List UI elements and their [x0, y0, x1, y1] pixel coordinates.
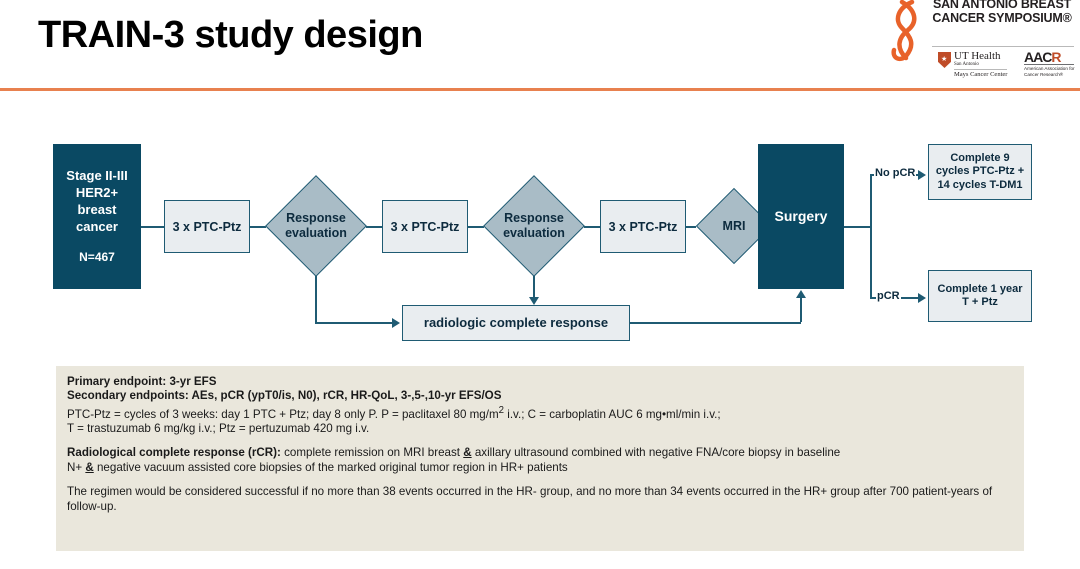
- connector-resp1-down: [315, 276, 317, 323]
- ut-mays-label: Mays Cancer Center: [954, 69, 1007, 78]
- treatment-box-3-label: 3 x PTC-Ptz: [609, 219, 678, 235]
- rcr-ampersand-1: &: [463, 446, 471, 459]
- rcr-part-1: complete remission on MRI breast: [281, 446, 463, 459]
- connector-tx1-resp1: [250, 226, 266, 228]
- arrow-into-surgery-bottom: [796, 290, 806, 298]
- treatment-box-2-label: 3 x PTC-Ptz: [391, 219, 460, 235]
- footnote-spacer-1: [67, 436, 1013, 446]
- arrow-into-rcr-left: [392, 318, 400, 328]
- treatment-box-1-label: 3 x PTC-Ptz: [173, 219, 242, 235]
- study-design-flowchart: Stage II-III HER2+ breast cancer N=467 3…: [0, 100, 1080, 360]
- rcr-part-2: axillary ultrasound combined with negati…: [472, 446, 841, 459]
- arrow-to-pcr-outcome: [918, 293, 926, 303]
- population-box: Stage II-III HER2+ breast cancer N=467: [53, 144, 141, 289]
- success-criteria-text: The regimen would be considered successf…: [67, 485, 1013, 514]
- connector-pop-tx1: [141, 226, 164, 228]
- regimen-line-2: T = trastuzumab 6 mg/kg i.v.; Ptz = pert…: [67, 422, 1013, 436]
- rcr-definition-line-1: Radiological complete response (rCR): co…: [67, 446, 1013, 460]
- sabcs-ribbon-icon: [886, 0, 928, 62]
- outcome-box-no-pcr-label: Complete 9 cycles PTC-Ptz + 14 cycles T-…: [933, 152, 1027, 193]
- regimen-line-1: PTC-Ptz = cycles of 3 weeks: day 1 PTC +…: [67, 404, 1013, 422]
- aacr-label: AACR: [1024, 49, 1060, 65]
- rcr-ampersand-2: &: [85, 461, 93, 474]
- rcr-part-3: N+: [67, 461, 85, 474]
- arrow-into-rcr-top: [529, 297, 539, 305]
- response-evaluation-2-label: Response evaluation: [484, 176, 584, 276]
- connector-rcr-to-surgery: [630, 322, 801, 324]
- population-count: N=467: [79, 249, 115, 266]
- sabcs-logo-title: SAN ANTONIO BREAST CANCER SYMPOSIUM®: [928, 0, 1076, 25]
- population-line1: Stage II-III: [66, 167, 127, 184]
- branch-trunk: [870, 174, 872, 299]
- branch-label-no-pcr: No pCR: [874, 167, 916, 179]
- connector-resp2-tx3: [584, 226, 600, 228]
- ut-health-label: UT Health: [954, 50, 1001, 62]
- radiologic-response-box: radiologic complete response: [402, 305, 630, 341]
- aacr-divider: [1024, 64, 1074, 65]
- logo-divider: [932, 46, 1074, 47]
- surgery-label: Surgery: [775, 208, 828, 225]
- response-evaluation-1: Response evaluation: [266, 176, 366, 276]
- population-line4: cancer: [76, 218, 118, 235]
- aacr-full-label: American Association for Cancer Research…: [1024, 66, 1078, 77]
- connector-resp2-down: [533, 276, 535, 297]
- treatment-box-2: 3 x PTC-Ptz: [382, 200, 468, 253]
- radiologic-response-label: radiologic complete response: [424, 315, 608, 331]
- population-line2: HER2+: [76, 184, 118, 201]
- treatment-box-1: 3 x PTC-Ptz: [164, 200, 250, 253]
- connector-rcr-up: [800, 298, 802, 322]
- response-evaluation-2: Response evaluation: [484, 176, 584, 276]
- footnote-panel: Primary endpoint: 3-yr EFS Secondary end…: [56, 366, 1024, 551]
- rcr-label: Radiological complete response (rCR):: [67, 446, 281, 459]
- treatment-box-3: 3 x PTC-Ptz: [600, 200, 686, 253]
- secondary-endpoint-line: Secondary endpoints: AEs, pCR (ypT0/is, …: [67, 389, 1013, 403]
- connector-tx3-mri: [686, 226, 696, 228]
- connector-resp1-tx2: [366, 226, 382, 228]
- header-accent-rule: [0, 88, 1080, 91]
- connector-surgery-branch: [844, 226, 872, 228]
- arrow-to-no-pcr-outcome: [918, 170, 926, 180]
- rcr-part-4: negative vacuum assisted core biopsies o…: [94, 461, 568, 474]
- page-title: TRAIN-3 study design: [38, 14, 423, 57]
- outcome-box-pcr: Complete 1 year T + Ptz: [928, 270, 1032, 322]
- regimen-line-1-cont: i.v.; C = carboplatin AUC 6 mg•ml/min i.…: [504, 408, 721, 421]
- sabcs-logo: SAN ANTONIO BREAST CANCER SYMPOSIUM® ★ U…: [886, 0, 1076, 86]
- rcr-definition-line-2: N+ & negative vacuum assisted core biops…: [67, 461, 1013, 475]
- outcome-box-no-pcr: Complete 9 cycles PTC-Ptz + 14 cycles T-…: [928, 144, 1032, 200]
- population-line3: breast: [77, 201, 116, 218]
- secondary-endpoint-value: AEs, pCR (ypT0/is, N0), rCR, HR-QoL, 3-,…: [189, 389, 502, 402]
- primary-endpoint-label: Primary endpoint:: [67, 375, 166, 388]
- branch-label-pcr: pCR: [876, 290, 901, 302]
- ut-sanantonio-label: San Antonio: [954, 62, 979, 67]
- response-evaluation-1-label: Response evaluation: [266, 176, 366, 276]
- regimen-line-1-text: PTC-Ptz = cycles of 3 weeks: day 1 PTC +…: [67, 408, 499, 421]
- surgery-box: Surgery: [758, 144, 844, 289]
- ut-star-icon: ★: [941, 56, 947, 63]
- primary-endpoint-value: 3-yr EFS: [166, 375, 216, 388]
- primary-endpoint-line: Primary endpoint: 3-yr EFS: [67, 375, 1013, 389]
- secondary-endpoint-label: Secondary endpoints:: [67, 389, 189, 402]
- logo-sublogos: ★ UT Health San Antonio Mays Cancer Cent…: [930, 49, 1076, 85]
- connector-resp1-to-rcr: [315, 322, 392, 324]
- connector-tx2-resp2: [468, 226, 484, 228]
- footnote-spacer-2: [67, 475, 1013, 485]
- outcome-box-pcr-label: Complete 1 year T + Ptz: [933, 283, 1027, 310]
